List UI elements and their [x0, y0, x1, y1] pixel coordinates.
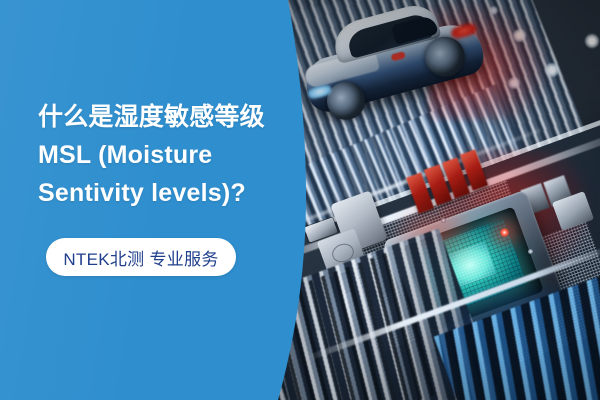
- headline-line-1: 什么是湿度敏感等级: [38, 98, 288, 136]
- headline-line-3: Sentivity levels)?: [38, 174, 288, 212]
- promo-banner: 什么是湿度敏感等级 MSL (Moisture Sentivity levels…: [0, 0, 600, 400]
- led-indicator: [500, 228, 509, 237]
- cta-button[interactable]: NTEK北测 专业服务: [46, 238, 236, 276]
- headline-line-2: MSL (Moisture: [38, 136, 288, 174]
- cpu-screw: [528, 249, 533, 254]
- bokeh-light: [585, 34, 599, 48]
- page-title: 什么是湿度敏感等级 MSL (Moisture Sentivity levels…: [38, 98, 288, 212]
- cta-button-label: NTEK北测 专业服务: [63, 245, 218, 270]
